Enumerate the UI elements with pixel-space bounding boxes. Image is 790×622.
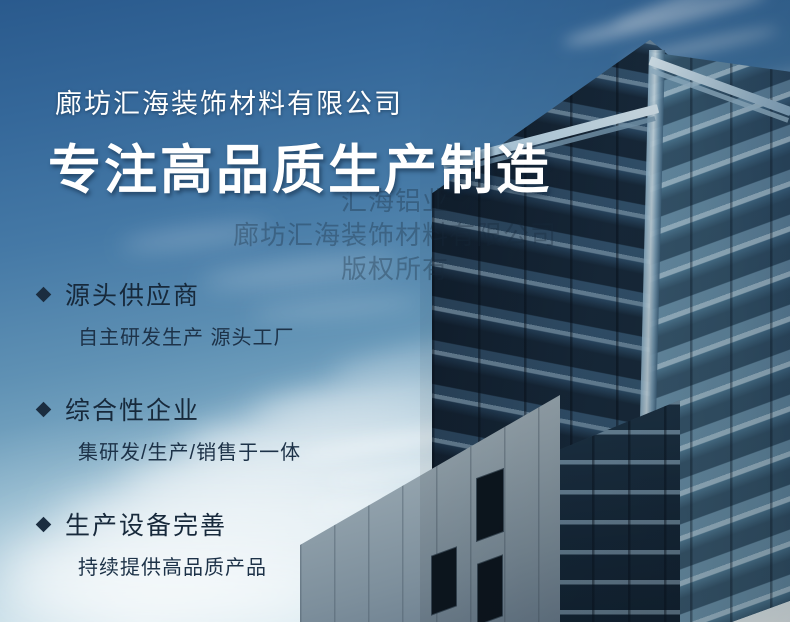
feature-subtitle: 集研发/生产/销售于一体: [78, 436, 468, 465]
panel-window: [477, 469, 503, 540]
feature-title: 生产设备完善: [65, 506, 227, 542]
diamond-bullet-icon: [36, 286, 52, 302]
company-name: 廊坊汇海装饰材料有限公司: [55, 82, 403, 121]
diamond-bullet-icon: [36, 401, 52, 417]
feature-subtitle: 持续提供高品质产品: [78, 551, 468, 580]
feature-title: 源头供应商: [65, 276, 200, 312]
list-item: 综合性企业 集研发/生产/销售于一体: [38, 391, 468, 465]
feature-heading-row: 源头供应商: [38, 276, 468, 312]
feature-subtitle: 自主研发生产 源头工厂: [78, 321, 468, 350]
feature-heading-row: 生产设备完善: [38, 506, 468, 542]
page-title: 专注高品质生产制造: [48, 128, 552, 204]
list-item: 生产设备完善 持续提供高品质产品: [38, 506, 468, 580]
panel-window: [478, 556, 502, 622]
list-item: 源头供应商 自主研发生产 源头工厂: [38, 276, 468, 350]
feature-title: 综合性企业: [65, 391, 200, 427]
feature-list: 源头供应商 自主研发生产 源头工厂 综合性企业 集研发/生产/销售于一体 生产设…: [38, 276, 468, 621]
promo-banner: 汇海铝业 廊坊汇海装饰材料有限公司 版权所有 廊坊汇海装饰材料有限公司 专注高品…: [0, 0, 790, 622]
feature-heading-row: 综合性企业: [38, 391, 468, 427]
diamond-bullet-icon: [36, 516, 52, 532]
